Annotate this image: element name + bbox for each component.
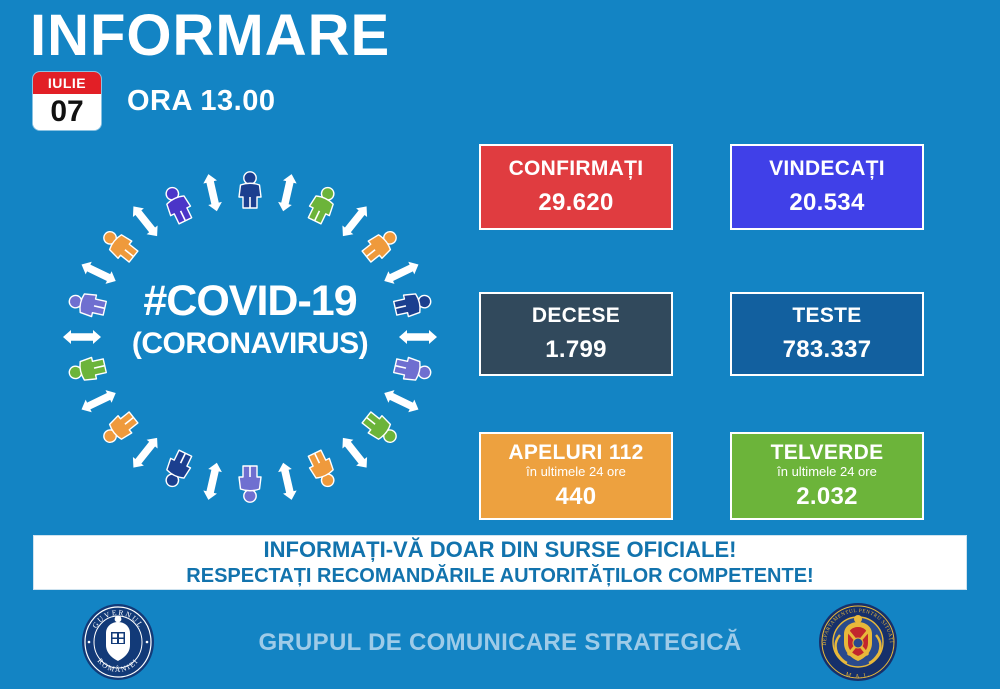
notice-line-1: INFORMAȚI-VĂ DOAR DIN SURSE OFICIALE! xyxy=(264,538,737,562)
social-distancing-icon: #COVID-19 (CORONAVIRUS) xyxy=(40,162,460,517)
person-figure xyxy=(360,225,402,265)
person-figure xyxy=(160,448,196,490)
notice-line-2: RESPECTAȚI RECOMANDĂRILE AUTORITĂȚILOR C… xyxy=(186,565,813,587)
person-figure xyxy=(393,290,433,320)
stat-card-decese: DECESE1.799 xyxy=(479,292,673,376)
person-figure xyxy=(239,466,261,502)
distance-arrow xyxy=(381,387,421,416)
distance-arrow xyxy=(78,258,118,287)
stat-value-confirmati: 29.620 xyxy=(538,189,613,217)
person-figure xyxy=(305,183,341,225)
dsu-mai-emblem: DEPARTAMENTUL PENTRU SITUAȚII M.A.I. xyxy=(818,600,894,680)
stat-label-vindecati: VINDECAȚI xyxy=(769,157,885,180)
stat-value-apeluri-112: 440 xyxy=(556,483,597,511)
person-figure xyxy=(305,448,341,490)
calendar-day: 07 xyxy=(33,94,101,130)
person-figure xyxy=(67,355,107,385)
distance-arrow xyxy=(63,330,101,344)
person-figure xyxy=(393,355,433,385)
distance-arrow xyxy=(202,461,224,501)
dsu-mai-emblem-svg: DEPARTAMENTUL PENTRU SITUAȚII M.A.I. xyxy=(818,600,898,684)
stat-label-confirmati: CONFIRMAȚI xyxy=(509,157,644,180)
distance-arrow xyxy=(78,387,118,416)
stat-card-confirmati: CONFIRMAȚI29.620 xyxy=(479,144,673,230)
person-figure xyxy=(360,409,402,449)
footer-title: GRUPUL DE COMUNICARE STRATEGICĂ xyxy=(258,629,741,657)
stat-label-teste: TESTE xyxy=(792,304,861,327)
person-figure xyxy=(67,290,107,320)
infographic-root: INFORMARE IULIE 07 ORA 13.00 #COVID-19 (… xyxy=(0,0,1000,688)
person-figure xyxy=(239,172,261,208)
stat-card-telverde: TELVERDEîn ultimele 24 ore2.032 xyxy=(730,432,924,520)
official-sources-banner: INFORMAȚI-VĂ DOAR DIN SURSE OFICIALE! RE… xyxy=(33,535,967,590)
date-bar: IULIE 07 ORA 13.00 xyxy=(33,72,276,130)
stat-card-teste: TESTE783.337 xyxy=(730,292,924,376)
social-distancing-svg xyxy=(40,162,460,517)
person-figure xyxy=(98,409,140,449)
stat-label-apeluri-112: APELURI 112 xyxy=(508,441,643,464)
stat-sublabel-telverde: în ultimele 24 ore xyxy=(777,465,877,479)
distance-arrow xyxy=(399,330,437,344)
page-title: INFORMARE xyxy=(30,6,390,67)
distance-arrow xyxy=(337,202,372,240)
person-figure xyxy=(160,183,196,225)
stat-card-apeluri-112: APELURI 112în ultimele 24 ore440 xyxy=(479,432,673,520)
distance-arrow xyxy=(276,173,298,213)
stat-value-teste: 783.337 xyxy=(783,336,872,364)
distance-arrow xyxy=(381,258,421,287)
stat-sublabel-apeluri-112: în ultimele 24 ore xyxy=(526,465,626,479)
hour-label: ORA 13.00 xyxy=(127,85,276,118)
stat-label-decese: DECESE xyxy=(532,304,620,327)
stat-label-telverde: TELVERDE xyxy=(771,441,884,464)
stat-value-telverde: 2.032 xyxy=(796,483,858,511)
person-figure xyxy=(98,225,140,265)
distance-arrow xyxy=(276,461,298,501)
calendar-icon: IULIE 07 xyxy=(33,72,101,130)
stat-card-vindecati: VINDECAȚI20.534 xyxy=(730,144,924,230)
distance-arrow xyxy=(337,433,372,471)
stat-value-decese: 1.799 xyxy=(545,336,607,364)
calendar-month: IULIE xyxy=(33,72,101,94)
stat-value-vindecati: 20.534 xyxy=(789,189,864,217)
distance-arrow xyxy=(128,433,163,471)
distance-arrow xyxy=(128,202,163,240)
distance-arrow xyxy=(202,173,224,213)
